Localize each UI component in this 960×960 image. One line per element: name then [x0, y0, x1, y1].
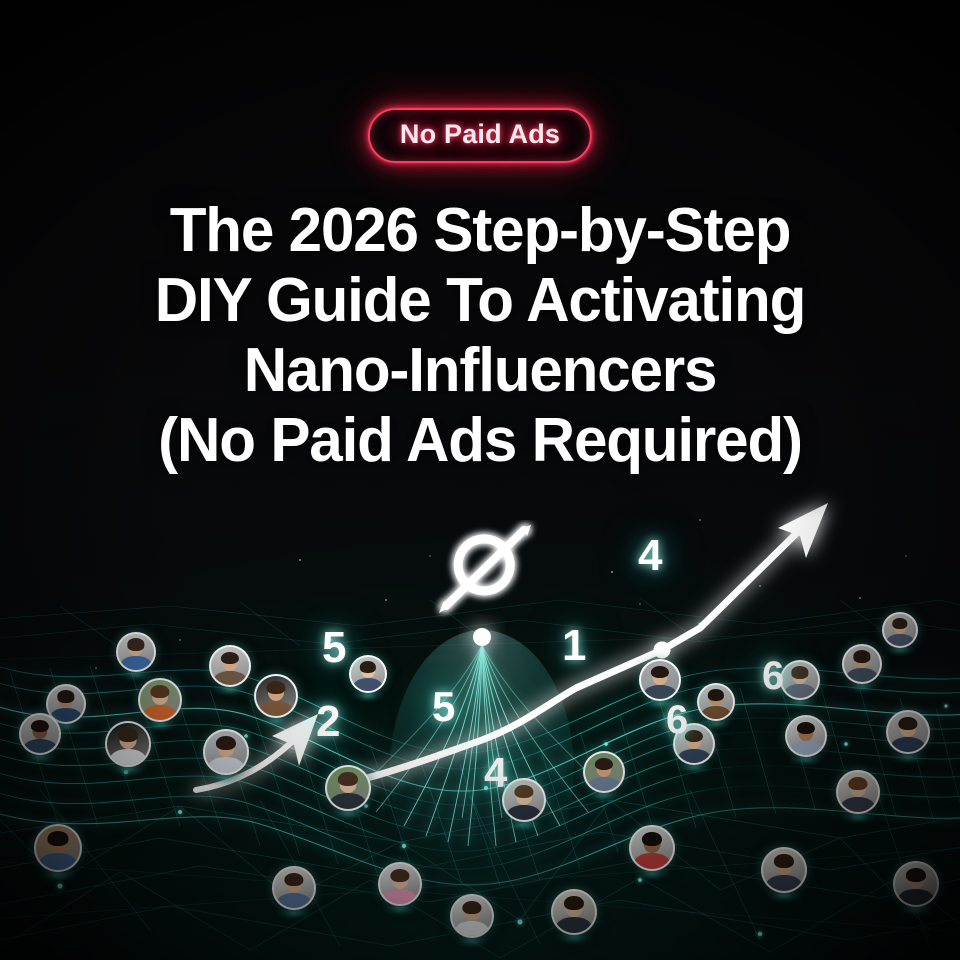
floating-step-number: 4 [638, 534, 662, 578]
avatar[interactable] [697, 683, 735, 721]
avatar-portrait [256, 676, 296, 716]
avatar-portrait [838, 772, 878, 812]
avatar-portrait [36, 826, 80, 870]
avatar[interactable] [842, 644, 882, 684]
avatar[interactable] [785, 715, 827, 757]
headline-line-2: DIY Guide To Activating [14, 266, 945, 336]
avatar[interactable] [780, 660, 820, 700]
avatar[interactable] [378, 862, 422, 906]
headline-line-3: Nano-Influencers [14, 336, 945, 406]
avatar-portrait [641, 661, 679, 699]
avatar-portrait [787, 717, 825, 755]
avatar-portrait [782, 662, 818, 698]
avatar-portrait [327, 767, 369, 809]
arrow-node-dot [654, 642, 671, 659]
avatar[interactable] [502, 778, 546, 822]
avatar[interactable] [629, 825, 675, 871]
floating-step-number: 5 [322, 626, 346, 670]
no-paid-ads-badge[interactable]: No Paid Ads [368, 108, 592, 163]
avatar-portrait [205, 731, 247, 773]
avatar-portrait [631, 827, 673, 869]
primary-arrowhead [778, 503, 828, 558]
avatar-portrait [118, 634, 154, 670]
avatar-portrait [699, 685, 733, 719]
avatar[interactable] [138, 678, 182, 722]
avatar[interactable] [203, 729, 249, 775]
avatar-portrait [452, 896, 492, 936]
avatar[interactable] [349, 655, 387, 693]
avatar[interactable] [893, 861, 939, 907]
avatar[interactable] [325, 765, 371, 811]
floating-step-number: 1 [562, 624, 586, 668]
secondary-arrowhead [272, 714, 318, 766]
avatar-portrait [884, 614, 916, 646]
avatar-portrait [274, 868, 314, 908]
avatar-portrait [763, 849, 805, 891]
avatar[interactable] [551, 889, 597, 935]
avatar-portrait [844, 646, 880, 682]
avatar[interactable] [583, 751, 625, 793]
floating-step-number: 6 [762, 656, 784, 696]
avatar-portrait [211, 647, 249, 685]
avatar[interactable] [19, 713, 61, 755]
avatar[interactable] [105, 721, 151, 767]
avatar[interactable] [761, 847, 807, 893]
avatar-portrait [351, 657, 385, 691]
avatar[interactable] [882, 612, 918, 648]
avatar-portrait [895, 863, 937, 905]
poster-canvas: 52541466 No Paid Ads The 2026 Step-by-St… [0, 0, 960, 960]
avatar-portrait [107, 723, 149, 765]
avatar-portrait [585, 753, 623, 791]
avatar-portrait [380, 864, 420, 904]
avatar-portrait [21, 715, 59, 753]
avatar-portrait [888, 712, 928, 752]
floating-step-number: 6 [666, 700, 688, 740]
avatar[interactable] [209, 645, 251, 687]
avatar[interactable] [886, 710, 930, 754]
brand-logo-mark [432, 520, 542, 620]
avatar[interactable] [272, 866, 316, 910]
avatar[interactable] [254, 674, 298, 718]
avatar-portrait [553, 891, 595, 933]
floating-step-number: 5 [432, 686, 455, 728]
headline-line-1: The 2026 Step-by-Step [14, 196, 945, 266]
avatar[interactable] [34, 824, 82, 872]
avatar[interactable] [450, 894, 494, 938]
avatar[interactable] [639, 659, 681, 701]
avatar[interactable] [836, 770, 880, 814]
headline-line-4: (No Paid Ads Required) [14, 406, 945, 476]
floating-step-number: 4 [484, 752, 507, 794]
floating-step-number: 2 [316, 700, 340, 744]
page-title: The 2026 Step-by-Step DIY Guide To Activ… [14, 196, 945, 476]
avatar-portrait [140, 680, 180, 720]
avatar[interactable] [116, 632, 156, 672]
avatar-portrait [504, 780, 544, 820]
